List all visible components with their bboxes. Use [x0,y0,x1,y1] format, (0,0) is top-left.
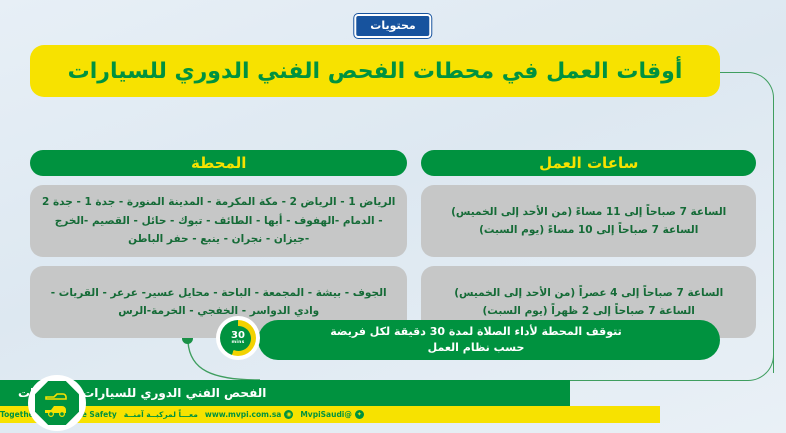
contents-badge: محتويات [354,14,431,38]
stations-column: المحطة الرياض 1 - الرياض 2 - مكة المكرمة… [30,150,407,338]
title-banner: أوقات العمل في محطات الفحص الفني الدوري … [30,45,720,97]
hours-line: الساعة 7 صباحاً إلى 4 عصراً (من الأحد إل… [433,284,744,302]
twitter-handle[interactable]: ✦ @MvpiSaudi [300,410,364,419]
website-label: www.mvpi.com.sa [205,410,281,419]
hours-column-header: ساعات العمل [421,150,756,176]
mvpi-logo [28,375,86,431]
prayer-note-pill: تتوقف المحطة لأداء الصلاة لمدة 30 دقيقة … [258,320,720,360]
twitter-label: @MvpiSaudi [300,410,352,419]
stations-column-header: المحطة [30,150,407,176]
clock-core: 30 mins [226,326,251,351]
working-hours-table: المحطة الرياض 1 - الرياض 2 - مكة المكرمة… [30,150,756,338]
car-icon [40,386,74,420]
twitter-icon: ✦ [355,410,364,419]
hours-column: ساعات العمل الساعة 7 صباحاً إلى 11 مساءً… [421,150,756,338]
slogan-ar: معـــاً لمركبــة آمنــة [124,410,198,419]
station-line: -جيزان - نجران - ينبع - حفر الباطن [42,230,395,248]
prayer-break-note: تتوقف المحطة لأداء الصلاة لمدة 30 دقيقة … [228,318,720,362]
station-line: - الدمام -الهفوف - أبها - الطائف - تبوك … [42,212,395,230]
logo-octagon [35,381,79,425]
clock-30min-icon: 30 mins [216,316,260,360]
table-row: الساعة 7 صباحاً إلى 11 مساءً (من الأحد إ… [421,185,756,257]
clock-unit: mins [232,341,245,346]
hours-line: الساعة 7 صباحاً إلى 11 مساءً (من الأحد إ… [433,203,744,221]
clock-ring: 30 mins [220,320,256,356]
page-title: أوقات العمل في محطات الفحص الفني الدوري … [68,59,683,84]
prayer-note-line-2: حسب نظام العمل [428,340,525,357]
prayer-note-line-1: تتوقف المحطة لأداء الصلاة لمدة 30 دقيقة … [330,324,622,341]
station-line: الجوف - بيشة - المجمعة - الباحة - محايل … [42,284,395,302]
station-line: الرياض 1 - الرياض 2 - مكة المكرمة - المد… [42,193,395,211]
footer-yellow-band: Together For Vehicle Safety معـــاً لمرك… [0,406,660,423]
globe-icon: ◉ [284,410,293,419]
table-row: الرياض 1 - الرياض 2 - مكة المكرمة - المد… [30,185,407,257]
hours-line: الساعة 7 صباحاً إلى 10 مساءً (يوم السبت) [433,221,744,239]
footer: الفحص الفني الدوري للسيارات والمركبات To… [0,375,786,433]
website-link[interactable]: ◉ www.mvpi.com.sa [205,410,293,419]
